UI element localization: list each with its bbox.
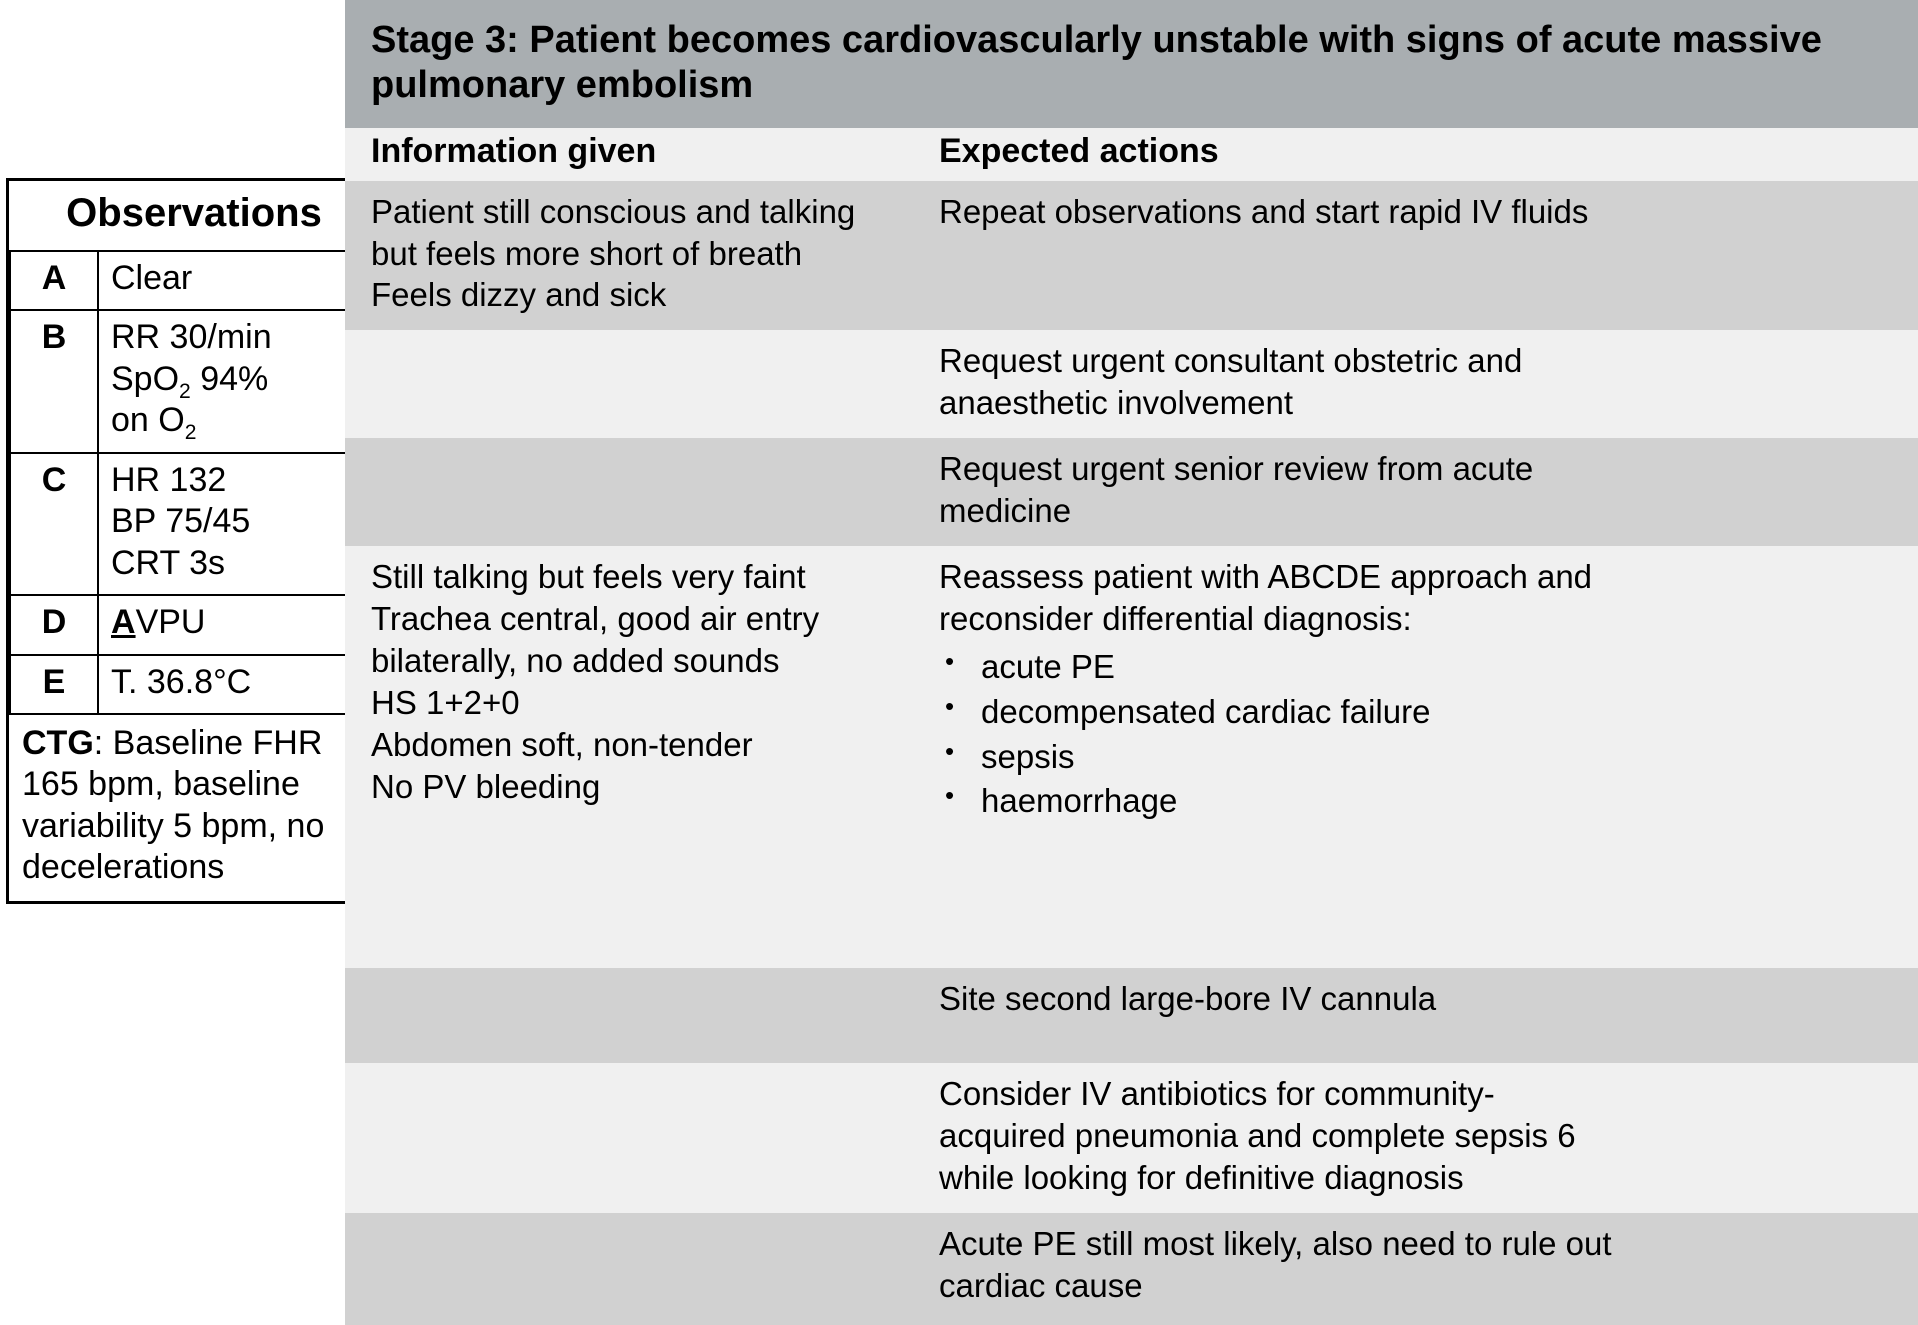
- table-row: Request urgent senior review from acutem…: [345, 438, 1918, 546]
- cell-expected-actions: Acute PE still most likely, also need to…: [913, 1213, 1918, 1321]
- observations-row-key: A: [10, 251, 98, 310]
- action-line: anaesthetic involvement: [939, 382, 1894, 424]
- observations-row-value: HR 132BP 75/45CRT 3s: [98, 453, 378, 595]
- table-row: Request urgent consultant obstetric anda…: [345, 330, 1918, 438]
- list-item: sepsis: [939, 736, 1894, 779]
- observations-row-key: C: [10, 453, 98, 595]
- observations-row-key: E: [10, 655, 98, 714]
- info-line: Abdomen soft, non-tender: [371, 724, 889, 766]
- action-line: Repeat observations and start rapid IV f…: [939, 191, 1894, 233]
- observations-title: Observations: [10, 181, 378, 251]
- observations-title-row: Observations: [10, 181, 378, 251]
- ctg-cell: CTG: Baseline FHR 165 bpm, baseline vari…: [10, 714, 378, 901]
- cell-expected-actions: Request urgent senior review from acutem…: [913, 438, 1918, 546]
- info-line: HS 1+2+0: [371, 682, 889, 724]
- action-line: Request urgent senior review from acute: [939, 448, 1894, 490]
- cell-information-given: [345, 438, 913, 462]
- stage-column-headers: Information given Expected actions: [345, 128, 1918, 181]
- list-item: acute PE: [939, 646, 1894, 689]
- observations-grid: ObservationsAClearBRR 30/minSpO2 94%on O…: [9, 181, 379, 901]
- observations-line: on O2: [111, 400, 367, 441]
- cell-information-given: [345, 1063, 913, 1087]
- cell-information-given: Still talking but feels very faintTrache…: [345, 546, 913, 821]
- column-header-information: Information given: [345, 128, 913, 181]
- cell-information-given: [345, 968, 913, 992]
- info-line: No PV bleeding: [371, 766, 889, 808]
- observations-line: AVPU: [111, 602, 367, 643]
- observations-line: RR 30/min: [111, 317, 367, 358]
- observations-row-value: Clear: [98, 251, 378, 310]
- info-line: but feels more short of breath: [371, 233, 889, 275]
- table-row: Patient still conscious and talkingbut f…: [345, 181, 1918, 331]
- info-line: bilaterally, no added sounds: [371, 640, 889, 682]
- observations-row: ET. 36.8°C: [10, 655, 378, 714]
- cell-expected-actions: Request urgent consultant obstetric anda…: [913, 330, 1918, 438]
- action-line: acquired pneumonia and complete sepsis 6: [939, 1115, 1894, 1157]
- observations-line: SpO2 94%: [111, 359, 367, 400]
- cell-expected-actions: Reassess patient with ABCDE approach and…: [913, 546, 1918, 839]
- observations-row-value: RR 30/minSpO2 94%on O2: [98, 310, 378, 452]
- stage-table: Stage 3: Patient becomes cardiovascularl…: [345, 0, 1918, 1252]
- observations-row-value: AVPU: [98, 595, 378, 654]
- list-item: decompensated cardiac failure: [939, 691, 1894, 734]
- observations-ctg-row: CTG: Baseline FHR 165 bpm, baseline vari…: [10, 714, 378, 901]
- subscript-2: 2: [179, 380, 191, 403]
- observations-row-key: D: [10, 595, 98, 654]
- action-line: Request urgent consultant obstetric and: [939, 340, 1894, 382]
- observations-row: AClear: [10, 251, 378, 310]
- observations-line: T. 36.8°C: [111, 662, 367, 703]
- table-row: Acute PE still most likely, also need to…: [345, 1213, 1918, 1325]
- differential-diagnosis-list: acute PEdecompensated cardiac failuresep…: [939, 646, 1894, 824]
- observations-table: ObservationsAClearBRR 30/minSpO2 94%on O…: [6, 178, 382, 904]
- cell-expected-actions: Site second large-bore IV cannula: [913, 968, 1918, 1034]
- table-row: Consider IV antibiotics for community-ac…: [345, 1063, 1918, 1213]
- observations-row-value: T. 36.8°C: [98, 655, 378, 714]
- observations-row: BRR 30/minSpO2 94%on O2: [10, 310, 378, 452]
- cell-information-given: Patient still conscious and talkingbut f…: [345, 181, 913, 331]
- cell-expected-actions: Repeat observations and start rapid IV f…: [913, 181, 1918, 247]
- stage-title: Stage 3: Patient becomes cardiovascularl…: [345, 0, 1918, 128]
- action-line: Reassess patient with ABCDE approach and: [939, 556, 1894, 598]
- info-line: Trachea central, good air entry: [371, 598, 889, 640]
- column-header-actions: Expected actions: [913, 128, 1918, 181]
- action-line: reconsider differential diagnosis:: [939, 598, 1894, 640]
- observations-row-key: B: [10, 310, 98, 452]
- info-line: Patient still conscious and talking: [371, 191, 889, 233]
- observations-line: Clear: [111, 258, 367, 299]
- observations-row: DAVPU: [10, 595, 378, 654]
- observations-line: HR 132: [111, 460, 367, 501]
- ctg-label: CTG: [22, 724, 94, 762]
- action-line: Consider IV antibiotics for community-: [939, 1073, 1894, 1115]
- action-line: Acute PE still most likely, also need to…: [939, 1223, 1894, 1265]
- stage-row-list: Patient still conscious and talkingbut f…: [345, 181, 1918, 1325]
- list-item: haemorrhage: [939, 780, 1894, 823]
- action-line: cardiac cause: [939, 1265, 1894, 1307]
- observations-line: CRT 3s: [111, 543, 367, 584]
- table-row: Site second large-bore IV cannula: [345, 968, 1918, 1063]
- info-line: Feels dizzy and sick: [371, 274, 889, 316]
- table-row: Still talking but feels very faintTrache…: [345, 546, 1918, 968]
- observations-row: CHR 132BP 75/45CRT 3s: [10, 453, 378, 595]
- subscript-2: 2: [185, 421, 197, 444]
- cell-expected-actions: Consider IV antibiotics for community-ac…: [913, 1063, 1918, 1213]
- cell-information-given: [345, 1213, 913, 1237]
- info-line: Still talking but feels very faint: [371, 556, 889, 598]
- action-line: while looking for definitive diagnosis: [939, 1157, 1894, 1199]
- avpu-alert-letter: A: [111, 603, 136, 641]
- observations-line: BP 75/45: [111, 501, 367, 542]
- cell-information-given: [345, 330, 913, 354]
- action-line: medicine: [939, 490, 1894, 532]
- action-line: Site second large-bore IV cannula: [939, 978, 1894, 1020]
